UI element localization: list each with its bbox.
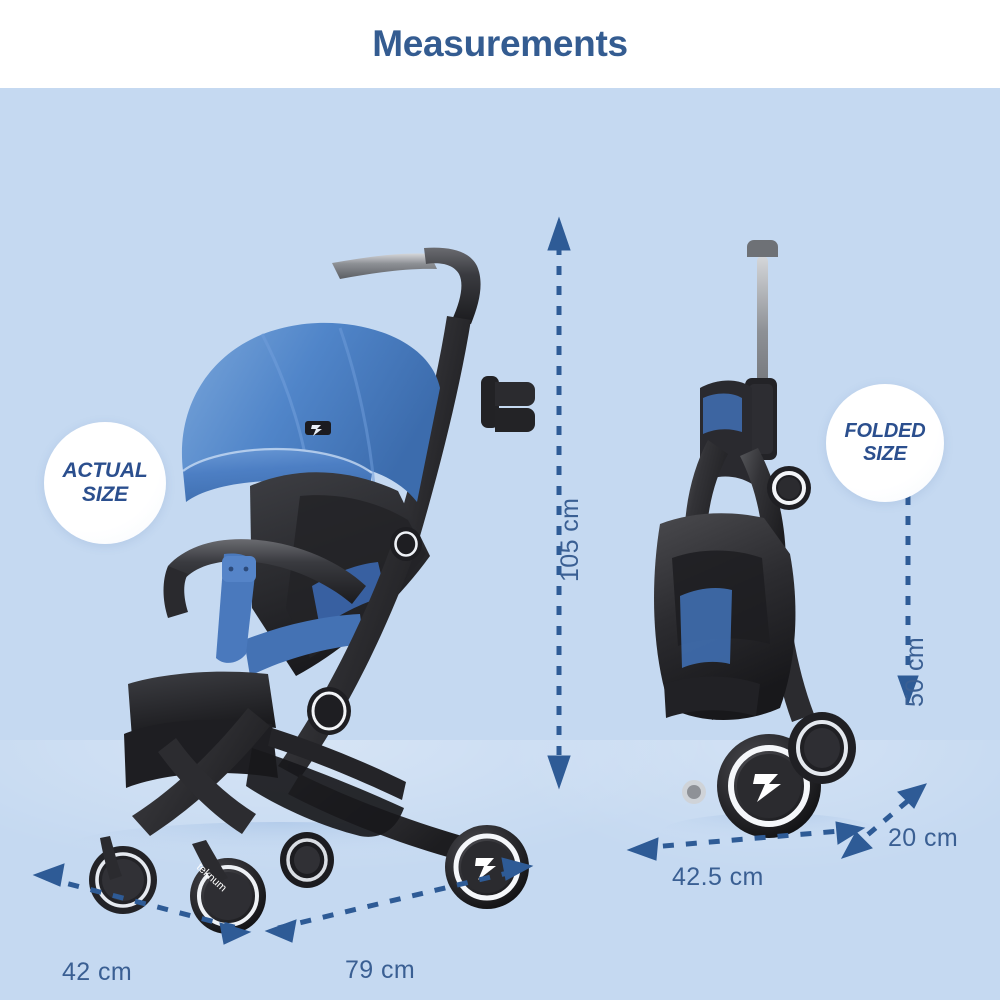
folded-fabric-body <box>654 513 795 720</box>
arrow-105-head-top <box>548 218 570 250</box>
folded-hub-ring <box>767 466 811 510</box>
floor-sheen <box>0 740 1000 930</box>
canopy-visor <box>183 449 372 502</box>
frame-hub-logo-2 <box>390 527 422 561</box>
trolley-handle-pole <box>757 256 768 446</box>
badge-actual-size-label: ACTUALSIZE <box>62 459 147 506</box>
folded-frame-right <box>740 448 786 566</box>
handle-housing <box>745 378 777 460</box>
seat-blue-pad <box>312 562 386 628</box>
folded-seat-blue <box>680 588 732 668</box>
folded-canopy <box>700 381 752 485</box>
badge-folded-size: FOLDEDSIZE <box>826 384 944 502</box>
badge-actual-size: ACTUALSIZE <box>44 422 166 544</box>
canopy-main <box>182 323 440 502</box>
header-band: Measurements <box>0 0 1000 88</box>
handle-telescope <box>332 253 437 279</box>
dimension-label-height-folded: 50 cm <box>901 637 930 707</box>
crotch-strap <box>216 554 256 663</box>
cup-holder <box>481 376 535 432</box>
handlebar-tube <box>394 316 471 543</box>
infographic-page: Measurements <box>0 0 1000 1000</box>
seat-back <box>250 472 430 676</box>
bumper-bar <box>168 539 366 604</box>
folded-leg-left <box>684 546 736 720</box>
dimension-label-length-open: 79 cm <box>345 956 415 985</box>
folded-frame-left <box>684 440 728 550</box>
footrest <box>128 672 276 738</box>
dimension-label-depth-folded: 20 cm <box>888 824 958 853</box>
seat-blue-base <box>244 614 364 676</box>
folded-leg-right <box>764 566 814 722</box>
page-title: Measurements <box>372 23 628 65</box>
handlebar-bend <box>424 248 481 324</box>
trolley-handle-grip <box>747 240 778 257</box>
badge-folded-size-label: FOLDEDSIZE <box>844 420 925 465</box>
folded-blue-fabric <box>703 394 742 435</box>
dimension-label-width-open: 42 cm <box>62 958 132 987</box>
frame-hub-logo <box>307 687 351 735</box>
measurements-panel: teknum <box>0 88 1000 1000</box>
dimension-label-height-open: 105 cm <box>556 498 585 582</box>
dimension-label-length-folded: 42.5 cm <box>672 863 764 892</box>
canopy-brand-tag <box>305 421 331 435</box>
